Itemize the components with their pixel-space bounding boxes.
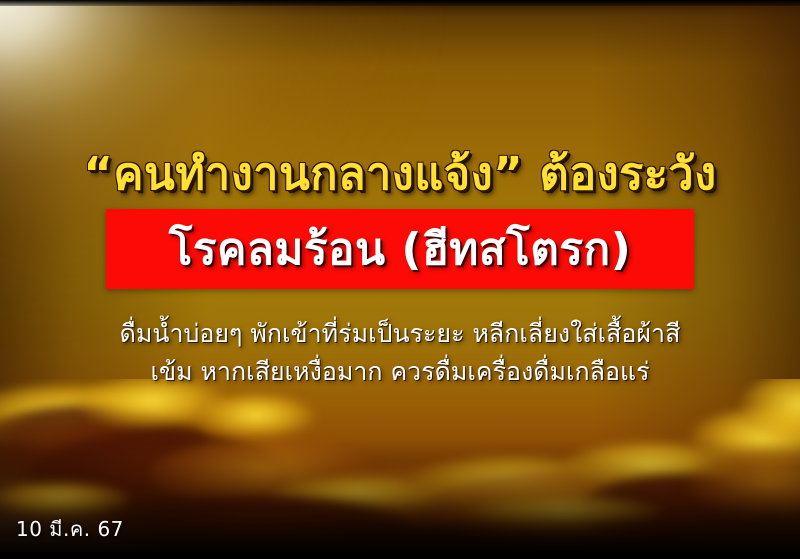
heat-stroke-warning-poster: “คนทำงานกลางแจ้ง” ต้องระวัง โรคลมร้อน (ฮ… [0,0,800,559]
advice-text: ดื่มน้ำบ่อยๆ พักเข้าที่ร่มเป็นระยะ หลีกเ… [0,315,800,391]
letterbox-bottom [0,552,800,559]
advice-line-2: เข้ม หากเสียเหงื่อมาก ควรดื่มเครื่องดื่ม… [0,353,800,391]
letterbox-top [0,0,800,6]
disease-name-label: โรคลมร้อน (ฮีทสโตรก) [169,214,632,284]
date-stamp: 10 มี.ค. 67 [16,513,124,545]
disease-name-banner: โรคลมร้อน (ฮีทสโตรก) [106,209,694,289]
poster-content: “คนทำงานกลางแจ้ง” ต้องระวัง โรคลมร้อน (ฮ… [0,0,800,559]
advice-line-1: ดื่มน้ำบ่อยๆ พักเข้าที่ร่มเป็นระยะ หลีกเ… [0,315,800,353]
page-title: “คนทำงานกลางแจ้ง” ต้องระวัง [0,150,800,197]
